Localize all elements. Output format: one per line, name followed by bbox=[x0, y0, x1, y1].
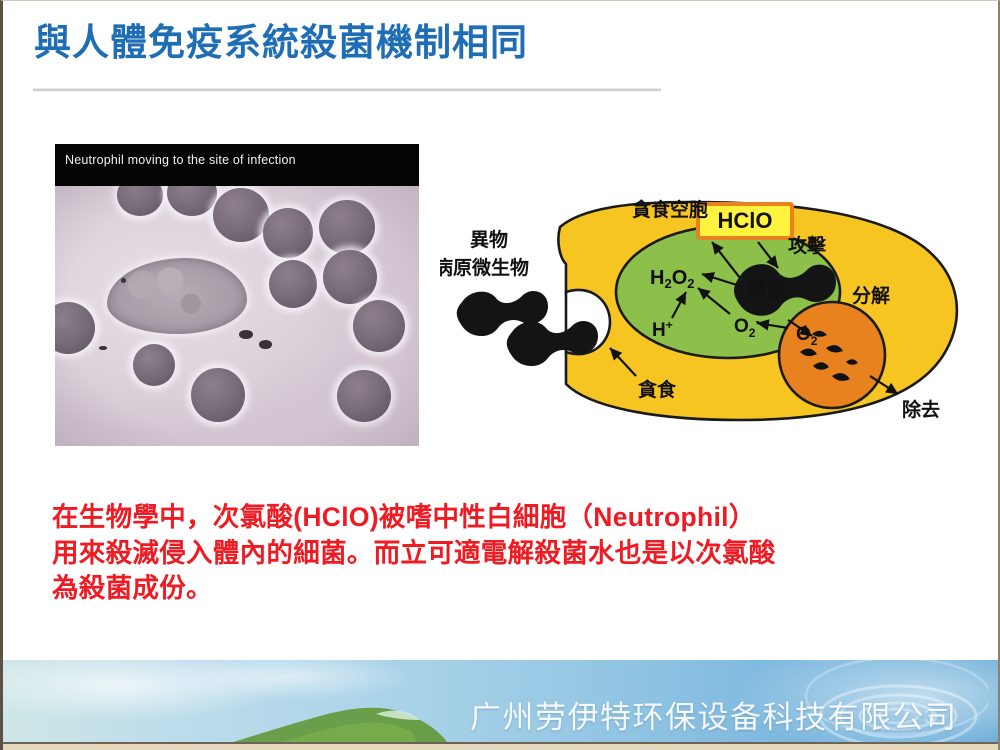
red-blood-cell bbox=[323, 250, 377, 304]
foreign-body-label: 異物 bbox=[470, 228, 508, 251]
remove-label: 除去 bbox=[902, 398, 940, 421]
debris-speck bbox=[259, 340, 272, 349]
red-blood-cell bbox=[55, 302, 95, 354]
phagocytosis-label: 貪食 bbox=[638, 378, 677, 401]
red-blood-cell bbox=[353, 300, 405, 352]
photo-caption: Neutrophil moving to the site of infecti… bbox=[65, 153, 296, 167]
red-blood-cell bbox=[263, 208, 313, 258]
title-block: 與人體免疫系統殺菌機制相同 bbox=[34, 22, 734, 65]
hclo-label: HClO bbox=[718, 208, 773, 233]
body-line-1: 在生物學中，次氯酸(HClO)被嗜中性白細胞（Neutrophil） bbox=[52, 500, 962, 536]
hclo-box: HClO bbox=[698, 204, 792, 238]
footer-leaf-graphic bbox=[180, 690, 480, 744]
attack-label: 攻擊 bbox=[788, 234, 827, 257]
debris-speck bbox=[99, 346, 107, 350]
neutrophil-microscope-photo: Neutrophil moving to the site of infecti… bbox=[55, 144, 419, 446]
red-blood-cell bbox=[269, 260, 317, 308]
debris-speck bbox=[121, 278, 126, 283]
neutrophil-cell bbox=[107, 258, 247, 334]
red-blood-cell bbox=[319, 200, 375, 254]
footer-company-name: 广州劳伊特环保设备科技有限公司 bbox=[470, 692, 958, 737]
phagocytosis-diagram: HClO H2O2 H+ O2- O2 酵素 貪食空胞 貪食 攻擊 分解 除去 … bbox=[440, 180, 988, 440]
page-title: 與人體免疫系統殺菌機制相同 bbox=[34, 22, 734, 65]
debris-speck bbox=[239, 330, 253, 339]
pathogen-label: 病原微生物 bbox=[440, 256, 529, 279]
photo-microscopy-field bbox=[55, 186, 419, 446]
red-blood-cell bbox=[213, 188, 269, 242]
red-blood-cell bbox=[337, 370, 391, 422]
slide-canvas: 與人體免疫系統殺菌機制相同 Neutrophil moving to bbox=[0, 0, 1000, 750]
decompose-label: 分解 bbox=[852, 284, 890, 307]
bottom-accent-strip bbox=[0, 742, 1000, 750]
page-number: 3 bbox=[924, 707, 935, 729]
enzyme-label: 酵素 bbox=[748, 278, 786, 301]
vacuole-label: 貪食空胞 bbox=[632, 198, 708, 221]
body-paragraph: 在生物學中，次氯酸(HClO)被嗜中性白細胞（Neutrophil） 用來殺滅侵… bbox=[52, 500, 962, 607]
title-divider bbox=[33, 88, 661, 92]
lysosome-shape bbox=[779, 302, 885, 408]
body-line-2: 用來殺滅侵入體內的細菌。而立可適電解殺菌水也是以次氯酸 bbox=[52, 536, 962, 572]
red-blood-cell bbox=[191, 368, 245, 422]
red-blood-cell bbox=[133, 344, 175, 386]
body-line-3: 為殺菌成份。 bbox=[52, 571, 962, 607]
